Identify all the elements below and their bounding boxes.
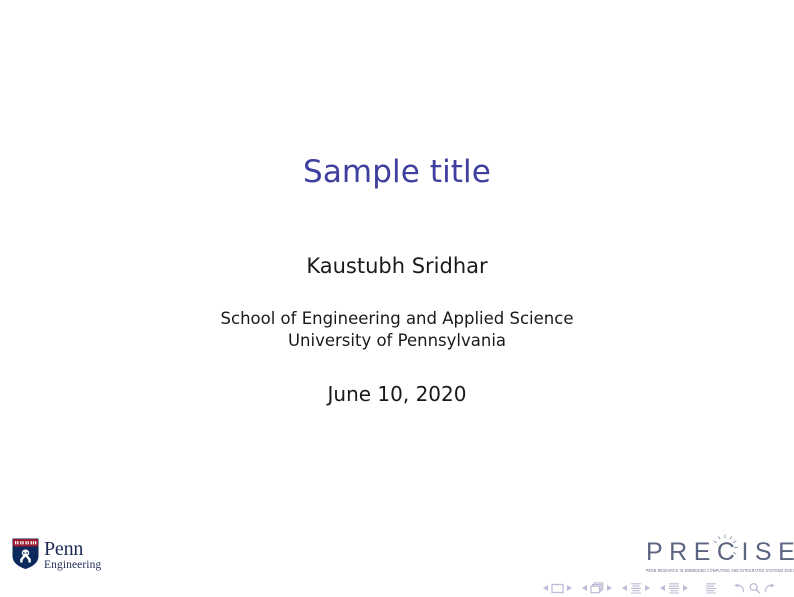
precise-tagline: PENN RESEARCH IN EMBEDDED COMPUTING AND … xyxy=(646,568,786,573)
frame-forward-arrow-icon[interactable] xyxy=(606,584,613,592)
subsection-back-arrow-icon[interactable] xyxy=(621,584,628,592)
nav-group-section[interactable] xyxy=(659,582,689,594)
institute-block: School of Engineering and Applied Scienc… xyxy=(0,308,794,352)
slide-icon[interactable] xyxy=(551,583,564,594)
presentation-date: June 10, 2020 xyxy=(0,382,794,406)
section-icon[interactable] xyxy=(668,582,680,594)
slide-forward-arrow-icon[interactable] xyxy=(566,584,573,592)
nav-group-frame[interactable] xyxy=(581,582,613,594)
page-title: Sample title xyxy=(0,155,794,191)
precise-letter-c: C xyxy=(717,538,742,566)
forward-arrow-icon[interactable] xyxy=(763,582,776,594)
section-back-arrow-icon[interactable] xyxy=(659,584,666,592)
frame-icon[interactable] xyxy=(590,582,604,594)
search-icon[interactable] xyxy=(748,582,761,594)
beamer-title-slide: Sample title Kaustubh Sridhar School of … xyxy=(0,0,794,597)
section-forward-arrow-icon[interactable] xyxy=(682,584,689,592)
precise-logo: PRECISE PENN RESEARCH IN EMBEDDED COMPUT… xyxy=(646,540,786,572)
subsection-forward-arrow-icon[interactable] xyxy=(644,584,651,592)
precise-letter-c-group: C xyxy=(717,540,742,565)
nav-group-history[interactable] xyxy=(733,582,776,594)
nav-group-slide[interactable] xyxy=(542,583,573,594)
penn-wordmark-text: Penn xyxy=(44,539,101,559)
author-name: Kaustubh Sridhar xyxy=(0,254,794,278)
subsection-icon[interactable] xyxy=(630,582,642,594)
nav-group-presentation[interactable] xyxy=(705,582,717,594)
institute-line-1: School of Engineering and Applied Scienc… xyxy=(0,308,794,330)
back-arrow-icon[interactable] xyxy=(733,582,746,594)
beamer-navigation-symbols[interactable] xyxy=(542,582,784,594)
presentation-icon[interactable] xyxy=(705,582,717,594)
institute-line-2: University of Pennsylvania xyxy=(0,330,794,352)
slide-back-arrow-icon[interactable] xyxy=(542,584,549,592)
nav-group-subsection[interactable] xyxy=(621,582,651,594)
penn-wordmark: Penn Engineering xyxy=(44,538,101,572)
precise-letters-ise: ISE xyxy=(741,538,794,566)
precise-letters-pre: PRE xyxy=(646,538,717,566)
penn-engineering-subtext: Engineering xyxy=(44,560,101,572)
frame-back-arrow-icon[interactable] xyxy=(581,584,588,592)
precise-wordmark: PRECISE xyxy=(646,540,786,565)
penn-engineering-logo: Penn Engineering xyxy=(12,538,101,573)
penn-shield-icon xyxy=(12,538,39,573)
title-block: Sample title xyxy=(0,155,794,191)
